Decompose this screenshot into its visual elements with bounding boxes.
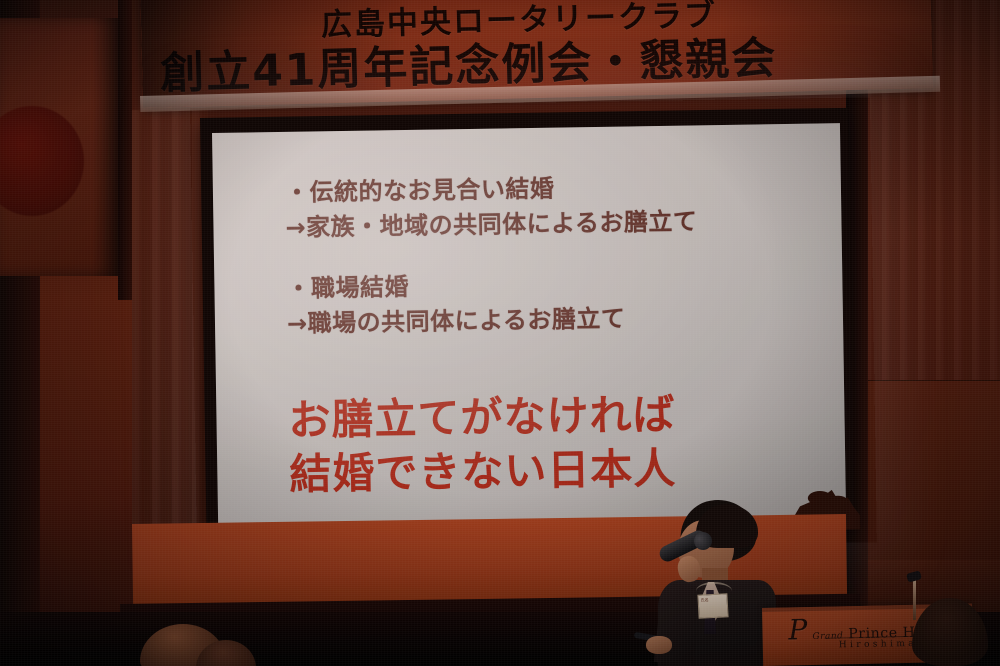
wall-seam — [118, 0, 132, 300]
speaker-lower-hand — [646, 636, 672, 654]
hinomaru-disc-icon — [0, 106, 84, 216]
projection-screen: ・伝統的なお見合い結婚 →家族・地域の共同体によるお膳立て ・職場結婚 →職場の… — [212, 123, 846, 525]
slide-headline-line: お膳立てがなければ — [288, 385, 845, 447]
mic-capsule-icon — [906, 570, 922, 583]
slide-headline-line: 結婚できない日本人 — [289, 439, 846, 501]
slide-block: ・職場結婚 →職場の共同体によるお膳立て — [286, 263, 843, 342]
slide-block: ・伝統的なお見合い結婚 →家族・地域の共同体によるお膳立て — [285, 167, 842, 246]
slide-arrow-line: →家族・地域の共同体によるお膳立て — [285, 202, 841, 246]
slide-content: ・伝統的なお見合い結婚 →家族・地域の共同体によるお膳立て ・職場結婚 →職場の… — [212, 123, 846, 525]
left-curtain — [132, 110, 208, 530]
monogram-p-icon: P — [788, 619, 807, 642]
mic-stem — [913, 580, 916, 620]
flag-fold-shadow — [92, 18, 118, 276]
slide-headline: お膳立てがなければ 結婚できない日本人 — [288, 385, 846, 501]
presentation-scene-photo: 広島中央ロータリークラブ 創立41周年記念例会・懇親会 ・伝統的なお見合い結婚 … — [0, 0, 1000, 666]
right-wall-panel-upper — [868, 380, 1000, 561]
slide-arrow-line: →職場の共同体によるお膳立て — [287, 298, 843, 342]
logo-location: Hiroshima — [839, 639, 917, 651]
japanese-flag — [0, 18, 118, 276]
speaker-name-badge: 氏名 — [697, 593, 728, 619]
lectern-microphone-stand — [905, 572, 925, 616]
